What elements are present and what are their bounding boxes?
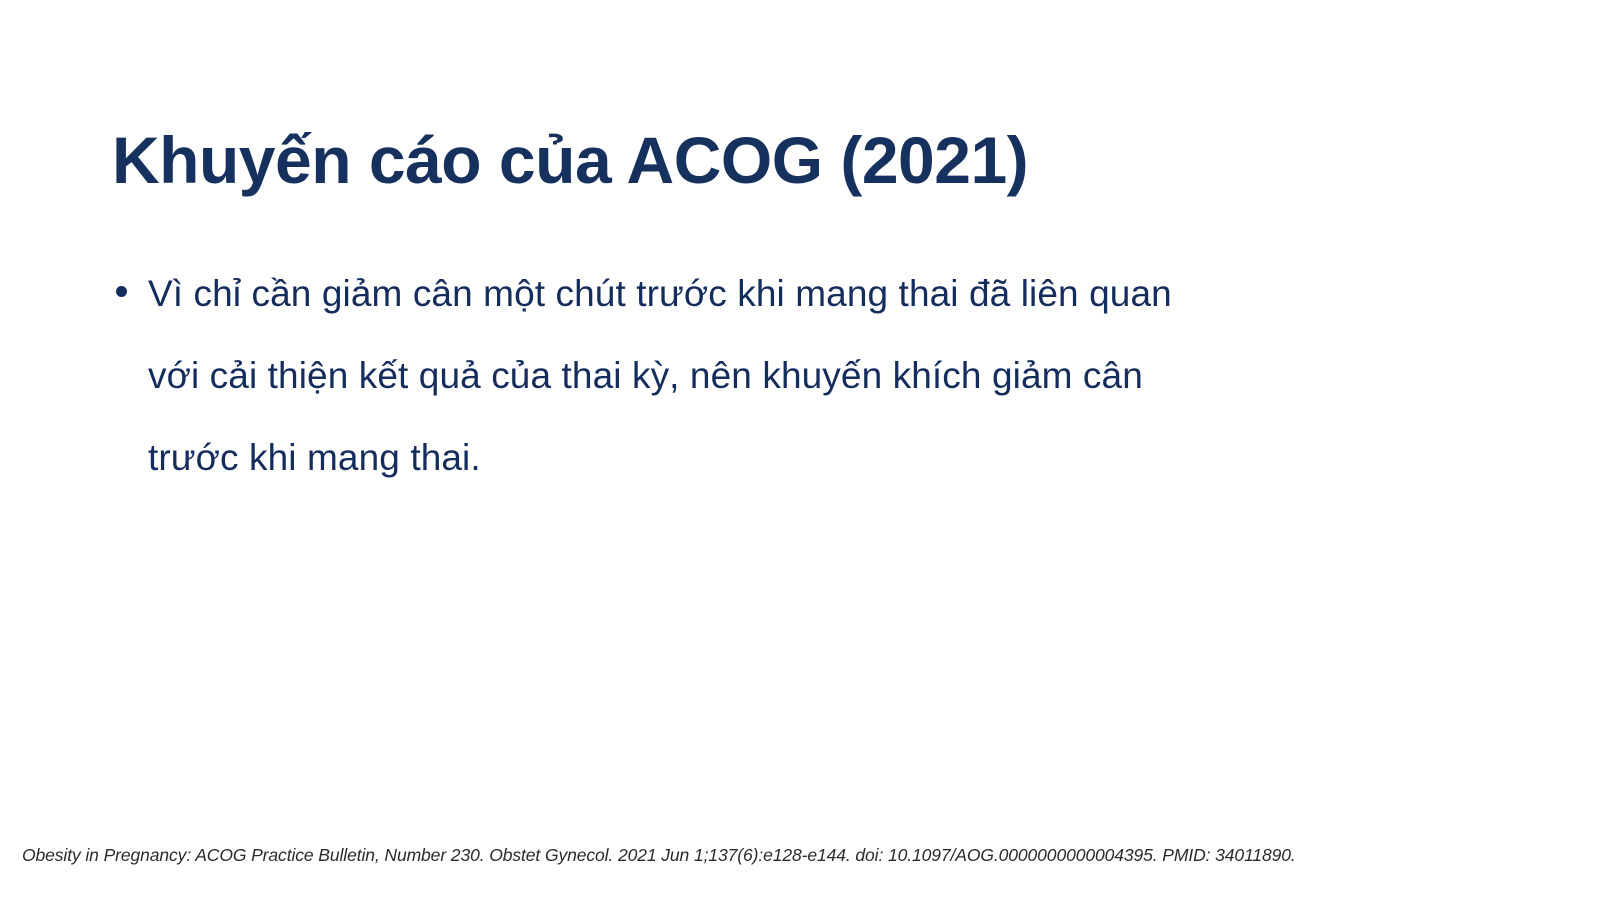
page-title: Khuyến cáo của ACOG (2021) xyxy=(112,122,1492,200)
bullet-dot-icon xyxy=(116,286,127,297)
slide-canvas: Khuyến cáo của ACOG (2021) Vì chỉ cần gi… xyxy=(0,0,1600,900)
bullet-text: Vì chỉ cần giảm cân một chút trước khi m… xyxy=(148,253,1448,499)
list-item: Vì chỉ cần giảm cân một chút trước khi m… xyxy=(108,253,1448,499)
footer-citation: Obesity in Pregnancy: ACOG Practice Bull… xyxy=(22,843,1582,867)
bullet-line: trước khi mang thai. xyxy=(148,417,1448,499)
bullet-line: Vì chỉ cần giảm cân một chút trước khi m… xyxy=(148,253,1448,335)
bullet-line: với cải thiện kết quả của thai kỳ, nên k… xyxy=(148,335,1448,417)
slide-body: Vì chỉ cần giảm cân một chút trước khi m… xyxy=(108,253,1448,499)
